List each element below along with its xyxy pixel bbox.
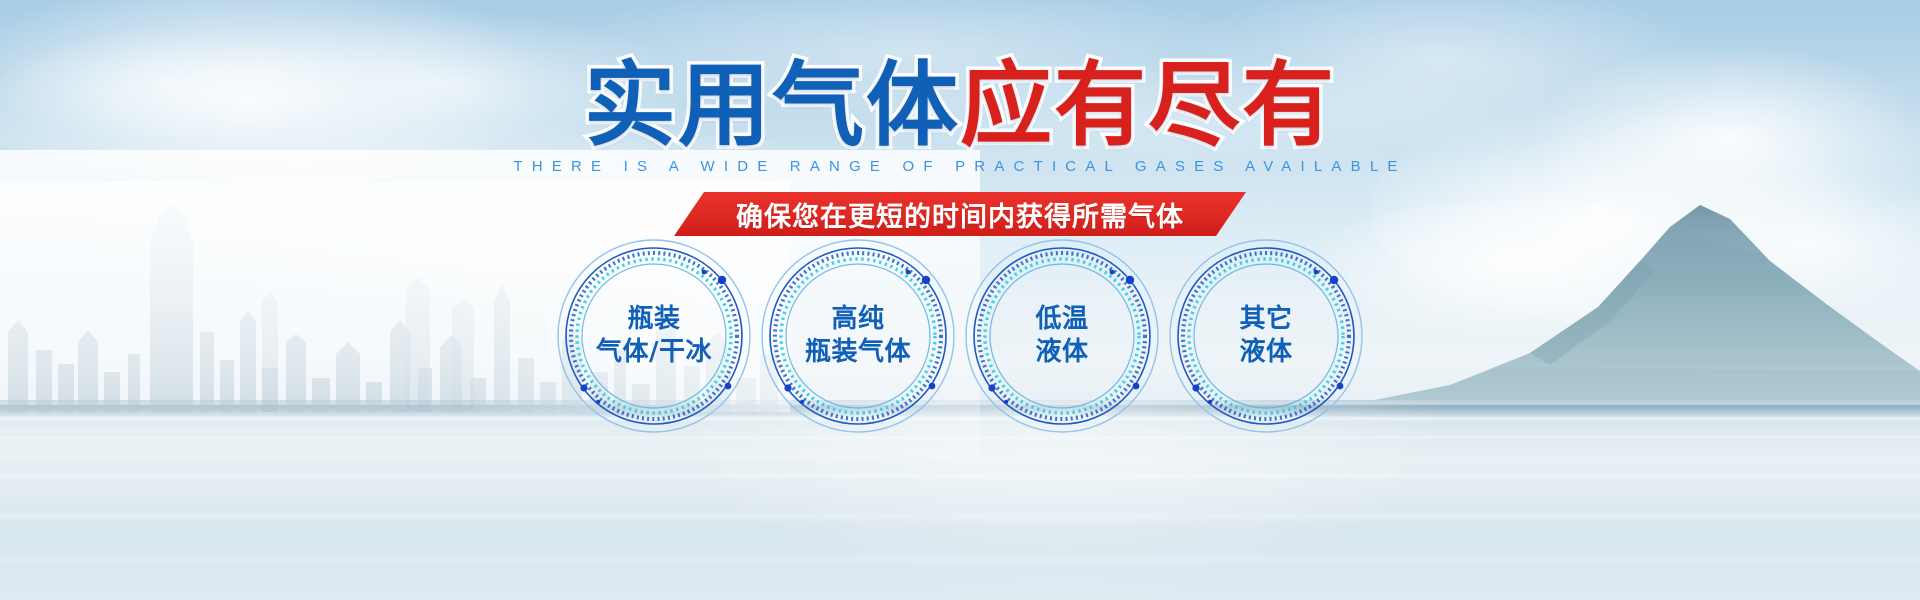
- circle-label-line2: 液体: [1239, 336, 1292, 369]
- circle-label-line1: 高纯: [831, 304, 884, 334]
- page-title: 实用气体应有尽有: [0, 58, 1920, 154]
- circle-label: 其它 液体: [1239, 303, 1292, 369]
- circle-label-line2: 瓶装气体: [805, 336, 911, 369]
- headline-blue-part: 实用气体: [584, 52, 960, 159]
- circle-badge-bottled-gas-dry-ice[interactable]: 瓶装 气体/干冰: [566, 248, 742, 424]
- subtitle-english: THERE IS A WIDE RANGE OF PRACTICAL GASES…: [0, 158, 1920, 175]
- tagline-ribbon: 确保您在更短的时间内获得所需气体: [674, 192, 1246, 236]
- circle-label: 高纯 瓶装气体: [805, 303, 911, 369]
- circle-badge-cryogenic-liquid[interactable]: 低温 液体: [974, 248, 1150, 424]
- circle-label-line2: 气体/干冰: [596, 336, 712, 369]
- banner-stage: 实用气体应有尽有 THERE IS A WIDE RANGE OF PRACTI…: [0, 0, 1920, 600]
- circle-label-line2: 液体: [1035, 336, 1088, 369]
- category-circle-row: 瓶装 气体/干冰 高纯 瓶装气体: [0, 248, 1920, 438]
- headline-red-part: 应有尽有: [960, 52, 1336, 159]
- ribbon-container: 确保您在更短的时间内获得所需气体: [0, 192, 1920, 236]
- circle-label: 瓶装 气体/干冰: [596, 303, 712, 369]
- circle-label-line1: 低温: [1035, 304, 1088, 334]
- circle-label-line1: 其它: [1239, 304, 1292, 334]
- circle-badge-other-liquid[interactable]: 其它 液体: [1178, 248, 1354, 424]
- ribbon-text: 确保您在更短的时间内获得所需气体: [736, 195, 1184, 234]
- circle-badge-high-purity-bottled-gas[interactable]: 高纯 瓶装气体: [770, 248, 946, 424]
- circle-label-line1: 瓶装: [627, 304, 680, 334]
- circle-label: 低温 液体: [1035, 303, 1088, 369]
